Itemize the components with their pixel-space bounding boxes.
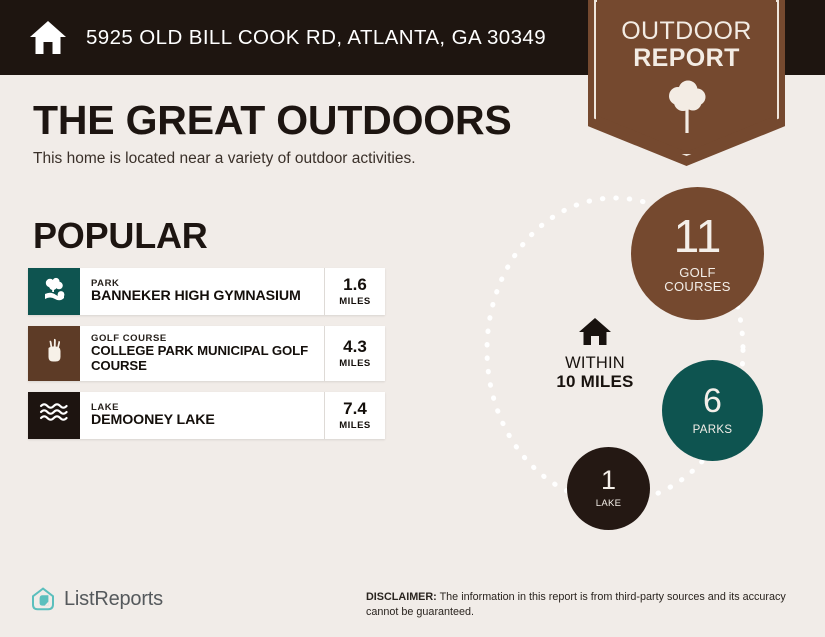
header-address: 5925 OLD BILL COOK RD, ATLANTA, GA 30349	[86, 26, 546, 50]
golf-courses-label-line1: GOLF	[664, 266, 730, 280]
lake-count: 1	[601, 467, 616, 494]
list-item-text: LAKE DEMOONEY LAKE	[80, 392, 324, 439]
page-subtitle: This home is located near a variety of o…	[33, 150, 416, 168]
listreports-logo[interactable]: ListReports	[30, 586, 163, 612]
outdoor-report-badge: OUTDOOR REPORT	[588, 0, 785, 166]
waves-icon	[38, 400, 70, 431]
golf-courses-label: GOLF COURSES	[664, 266, 730, 294]
parks-count-circle[interactable]: 6 PARKS	[662, 360, 763, 461]
golf-courses-count: 11	[674, 213, 722, 259]
distance-unit: MILES	[339, 358, 371, 369]
list-item[interactable]: LAKE DEMOONEY LAKE 7.4 MILES	[28, 392, 385, 439]
golf-courses-label-line2: COURSES	[664, 280, 730, 294]
list-item-distance: 1.6 MILES	[324, 268, 385, 315]
golf-courses-count-circle[interactable]: 11 GOLF COURSES	[631, 187, 764, 320]
list-item[interactable]: PARK BANNEKER HIGH GYMNASIUM 1.6 MILES	[28, 268, 385, 315]
outdoor-summary-diagram: WITHIN 10 MILES 11 GOLF COURSES 6 PARKS …	[440, 172, 825, 562]
list-item[interactable]: GOLF COURSE COLLEGE PARK MUNICIPAL GOLF …	[28, 326, 385, 381]
waves-icon-tile	[28, 392, 80, 439]
listreports-house-tag-icon	[30, 586, 56, 612]
disclaimer: DISCLAIMER: The information in this repo…	[366, 590, 794, 621]
parks-count: 6	[703, 384, 722, 418]
golf-icon	[39, 335, 69, 372]
distance-value: 4.3	[343, 338, 367, 355]
distance-value: 7.4	[343, 400, 367, 417]
list-item-text: GOLF COURSE COLLEGE PARK MUNICIPAL GOLF …	[80, 326, 324, 381]
badge-text: OUTDOOR REPORT	[588, 18, 785, 71]
lake-count-circle[interactable]: 1 LAKE	[567, 447, 650, 530]
list-item-distance: 4.3 MILES	[324, 326, 385, 381]
list-item-name: COLLEGE PARK MUNICIPAL GOLF COURSE	[91, 344, 318, 374]
home-icon	[535, 316, 655, 348]
park-icon	[39, 274, 69, 309]
distance-unit: MILES	[339, 296, 371, 307]
park-icon-tile	[28, 268, 80, 315]
list-item-name: DEMOONEY LAKE	[91, 413, 318, 429]
within-radius-block: WITHIN 10 MILES	[535, 316, 655, 392]
popular-heading: POPULAR	[33, 215, 208, 257]
disclaimer-label: DISCLAIMER:	[366, 591, 437, 603]
popular-list: PARK BANNEKER HIGH GYMNASIUM 1.6 MILES	[28, 268, 385, 450]
distance-value: 1.6	[343, 276, 367, 293]
list-item-text: PARK BANNEKER HIGH GYMNASIUM	[80, 268, 324, 315]
tree-icon	[588, 80, 785, 136]
list-item-distance: 7.4 MILES	[324, 392, 385, 439]
home-icon	[27, 17, 69, 59]
lake-label: LAKE	[596, 499, 622, 509]
page-title: THE GREAT OUTDOORS	[33, 97, 512, 144]
golf-icon-tile	[28, 326, 80, 381]
badge-line-report: REPORT	[588, 45, 785, 72]
listreports-logo-text: ListReports	[64, 588, 163, 611]
list-item-name: BANNEKER HIGH GYMNASIUM	[91, 289, 318, 305]
parks-label: PARKS	[693, 424, 733, 436]
badge-line-outdoor: OUTDOOR	[588, 18, 785, 45]
within-label-line2: 10 MILES	[535, 372, 655, 391]
within-label-line1: WITHIN	[535, 354, 655, 372]
distance-unit: MILES	[339, 420, 371, 431]
